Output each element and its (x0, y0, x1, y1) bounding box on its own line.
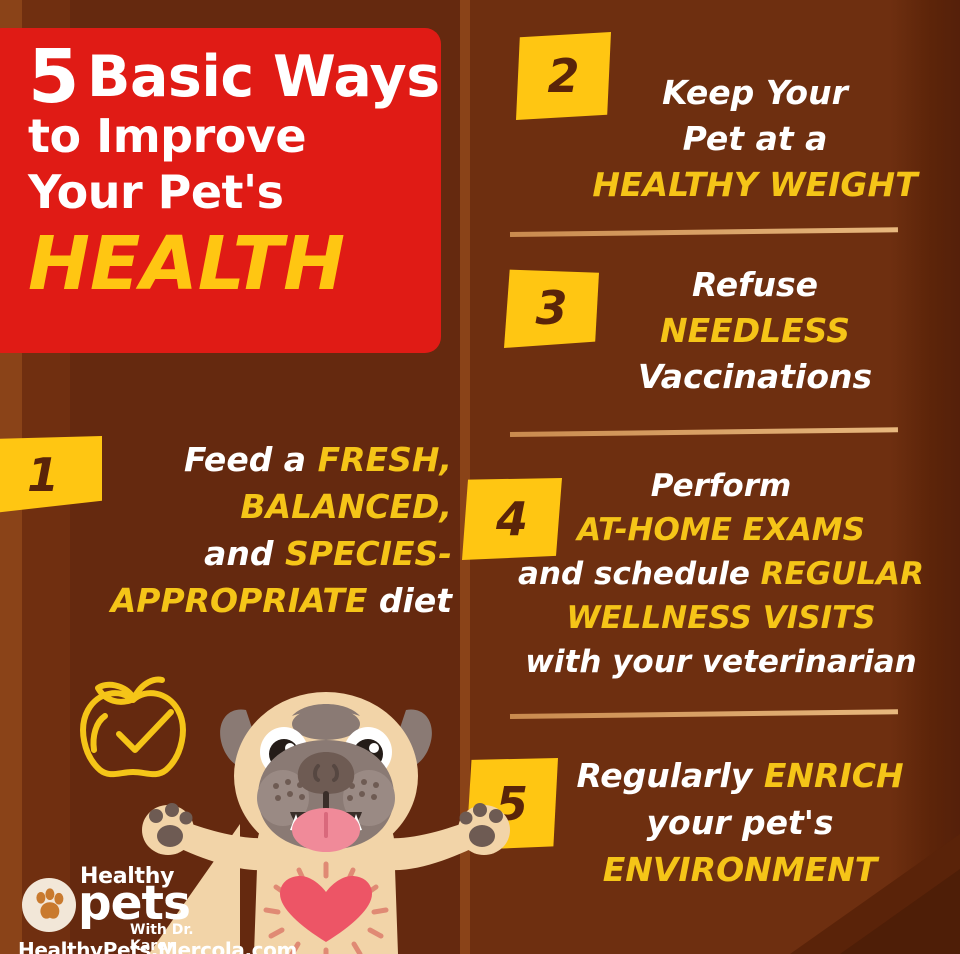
tip-line: and schedule REGULAR (490, 552, 952, 596)
tip-emphasis: WELLNESS VISITS (566, 600, 875, 636)
title-line-2: to Improve (28, 108, 415, 164)
tip-emphasis: APPROPRIATE (111, 581, 368, 620)
paw-icon (22, 878, 76, 932)
tip-line: WELLNESS VISITS (490, 596, 952, 640)
tip-plain: Feed a (184, 440, 318, 479)
logo-pets-text: pets (78, 880, 190, 927)
tip-emphasis: ENVIRONMENT (603, 850, 878, 889)
tip-line: Regularly ENRICH (530, 752, 950, 799)
tip-plain: your pet's (647, 803, 834, 842)
tip-line: Keep Your (560, 70, 950, 116)
tip-plain: Vaccinations (638, 357, 872, 396)
tip-4-text: PerformAT-HOME EXAMSand schedule REGULAR… (490, 464, 952, 684)
tip-emphasis: HEALTHY WEIGHT (592, 165, 917, 204)
tip-2-text: Keep YourPet at aHEALTHY WEIGHT (560, 70, 950, 208)
tip-line: Pet at a (560, 116, 950, 162)
tip-1-number: 1 (27, 448, 59, 502)
tip-line: Refuse (560, 262, 950, 308)
logo-url: HealthyPets.Mercola.com (18, 938, 297, 954)
tip-1-number-badge: 1 (0, 436, 102, 514)
tip-plain: with your veterinarian (525, 644, 916, 680)
tip-line: ENVIRONMENT (530, 846, 950, 893)
tip-line: HEALTHY WEIGHT (560, 162, 950, 208)
title-line-4: HEALTH (28, 222, 415, 306)
title-line-1-text: Basic Ways (87, 44, 440, 110)
title-card: 5Basic Ways to Improve Your Pet's HEALTH (0, 28, 441, 353)
tip-emphasis: AT-HOME EXAMS (577, 512, 865, 548)
tip-line: Perform (490, 464, 952, 508)
tip-emphasis: FRESH, (318, 440, 452, 479)
tip-plain: Refuse (692, 265, 818, 304)
title-line-1: 5Basic Ways (28, 46, 415, 108)
tip-plain: and schedule (518, 556, 761, 592)
tip-emphasis: BALANCED, (240, 487, 452, 526)
tip-plain: diet (367, 581, 452, 620)
tip-emphasis: REGULAR (761, 556, 924, 592)
tip-line: your pet's (530, 799, 950, 846)
tip-plain: Regularly (576, 756, 763, 795)
tip-line: APPROPRIATE diet (96, 577, 452, 624)
tip-line: Vaccinations (560, 354, 950, 400)
tip-5-text: Regularly ENRICHyour pet'sENVIRONMENT (530, 752, 950, 893)
tip-line: BALANCED, (96, 483, 452, 530)
tip-3-text: RefuseNEEDLESSVaccinations (560, 262, 950, 400)
tip-line: Feed a FRESH, (96, 436, 452, 483)
tip-line: NEEDLESS (560, 308, 950, 354)
tip-line: with your veterinarian (490, 640, 952, 684)
tip-emphasis: NEEDLESS (660, 311, 850, 350)
healthypets-logo[interactable]: Healthy pets With Dr. Karen Becker Healt… (18, 858, 233, 950)
tip-line: AT-HOME EXAMS (490, 508, 952, 552)
tip-1-text: Feed a FRESH,BALANCED,and SPECIES-APPROP… (96, 436, 452, 624)
tip-emphasis: SPECIES- (285, 534, 452, 573)
tip-plain: and (204, 534, 285, 573)
tip-plain: Keep Your (662, 73, 848, 112)
tip-plain: Pet at a (683, 119, 828, 158)
tip-emphasis: ENRICH (764, 756, 904, 795)
infographic-canvas: 5Basic Ways to Improve Your Pet's HEALTH… (0, 0, 960, 954)
tip-plain: Perform (651, 468, 792, 504)
tip-line: and SPECIES- (96, 530, 452, 577)
title-line-3: Your Pet's (28, 164, 415, 220)
